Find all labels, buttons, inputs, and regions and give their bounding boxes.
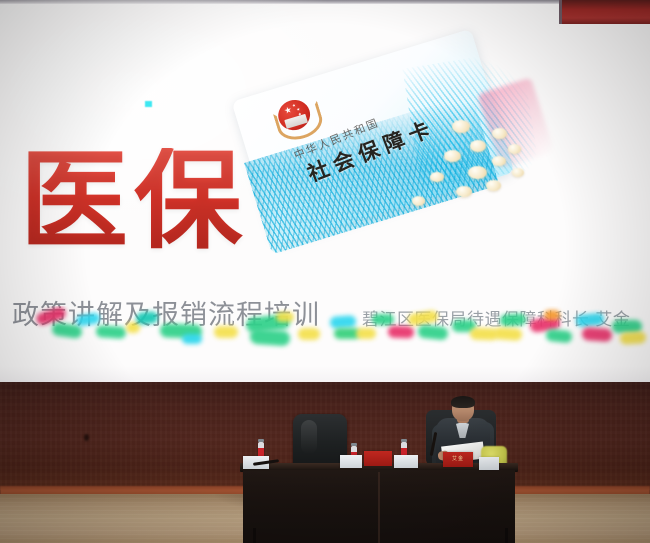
- social-security-card: 中华人民共和国 社会保障卡: [232, 29, 515, 246]
- capsule-30: [276, 312, 294, 322]
- capsule-3: [75, 312, 101, 327]
- water-bottle-3-cap: [401, 439, 407, 442]
- capsule-21: [500, 313, 527, 327]
- tablet-9: [456, 186, 472, 197]
- slide-title: 医保: [20, 148, 248, 256]
- capsule-24: [545, 329, 572, 344]
- capsule-12: [330, 315, 357, 329]
- colorful-capsules-strip: [0, 306, 650, 364]
- slide-top-right-red-band: [562, 0, 650, 24]
- tablet-10: [486, 180, 501, 191]
- cyan-pixel-artifact-icon: [145, 101, 152, 107]
- capsule-10: [250, 329, 291, 347]
- capsule-16: [388, 326, 414, 339]
- empty-chair: [293, 414, 347, 466]
- capsule-28: [620, 331, 647, 345]
- tablet-7: [508, 144, 521, 154]
- name-placard-center: [340, 455, 362, 468]
- capsule-4: [96, 325, 127, 339]
- capsule-14: [372, 314, 394, 325]
- red-nameplate-speaker-text: 艾金: [443, 455, 473, 462]
- national-emblem-icon: [270, 93, 320, 143]
- name-placard-right: [394, 455, 418, 468]
- chair-highlight: [301, 420, 317, 454]
- screen-bottom-fade: [0, 366, 650, 382]
- red-nameplate-speaker: 艾金: [443, 452, 473, 467]
- water-bottle-1-cap: [258, 439, 264, 442]
- capsule-6: [135, 311, 158, 325]
- table-panel-seam: [378, 472, 380, 543]
- screen-top-frame: [0, 0, 650, 4]
- wall-blemish: [84, 434, 89, 441]
- tablet-3: [492, 128, 507, 139]
- capsule-15: [356, 328, 376, 339]
- tablet-8: [430, 172, 444, 182]
- capsule-18: [417, 324, 448, 340]
- capsule-22: [494, 327, 523, 341]
- water-bottle-2-cap: [351, 443, 357, 446]
- table-leg-left: [253, 528, 256, 543]
- capsule-17: [407, 309, 439, 326]
- tablet-4: [444, 150, 461, 162]
- social-security-card-graphic: 中华人民共和国 社会保障卡: [228, 44, 548, 244]
- red-nameplate-center: [364, 451, 392, 466]
- capsule-31: [544, 310, 560, 320]
- capsule-11: [298, 328, 320, 340]
- capsule-25: [575, 313, 604, 328]
- table-leg-right: [505, 528, 508, 543]
- tablet-11: [512, 168, 524, 177]
- name-placard-far-right: [479, 457, 499, 470]
- capsule-8: [214, 326, 238, 338]
- tablet-6: [492, 156, 506, 166]
- tablet-2: [470, 140, 486, 152]
- capsule-29: [182, 334, 202, 344]
- tablet-12: [412, 196, 425, 206]
- conference-hall-scene: 中华人民共和国 社会保障卡 医保 政策讲解及报销流程培训 碧江区医保局待遇保障科…: [0, 0, 650, 543]
- tablet-5: [468, 166, 487, 179]
- capsule-26: [582, 327, 613, 342]
- projection-screen: 中华人民共和国 社会保障卡 医保 政策讲解及报销流程培训 碧江区医保局待遇保障科…: [0, 0, 650, 382]
- speaker-hair: [451, 396, 475, 408]
- tablet-1: [452, 120, 470, 133]
